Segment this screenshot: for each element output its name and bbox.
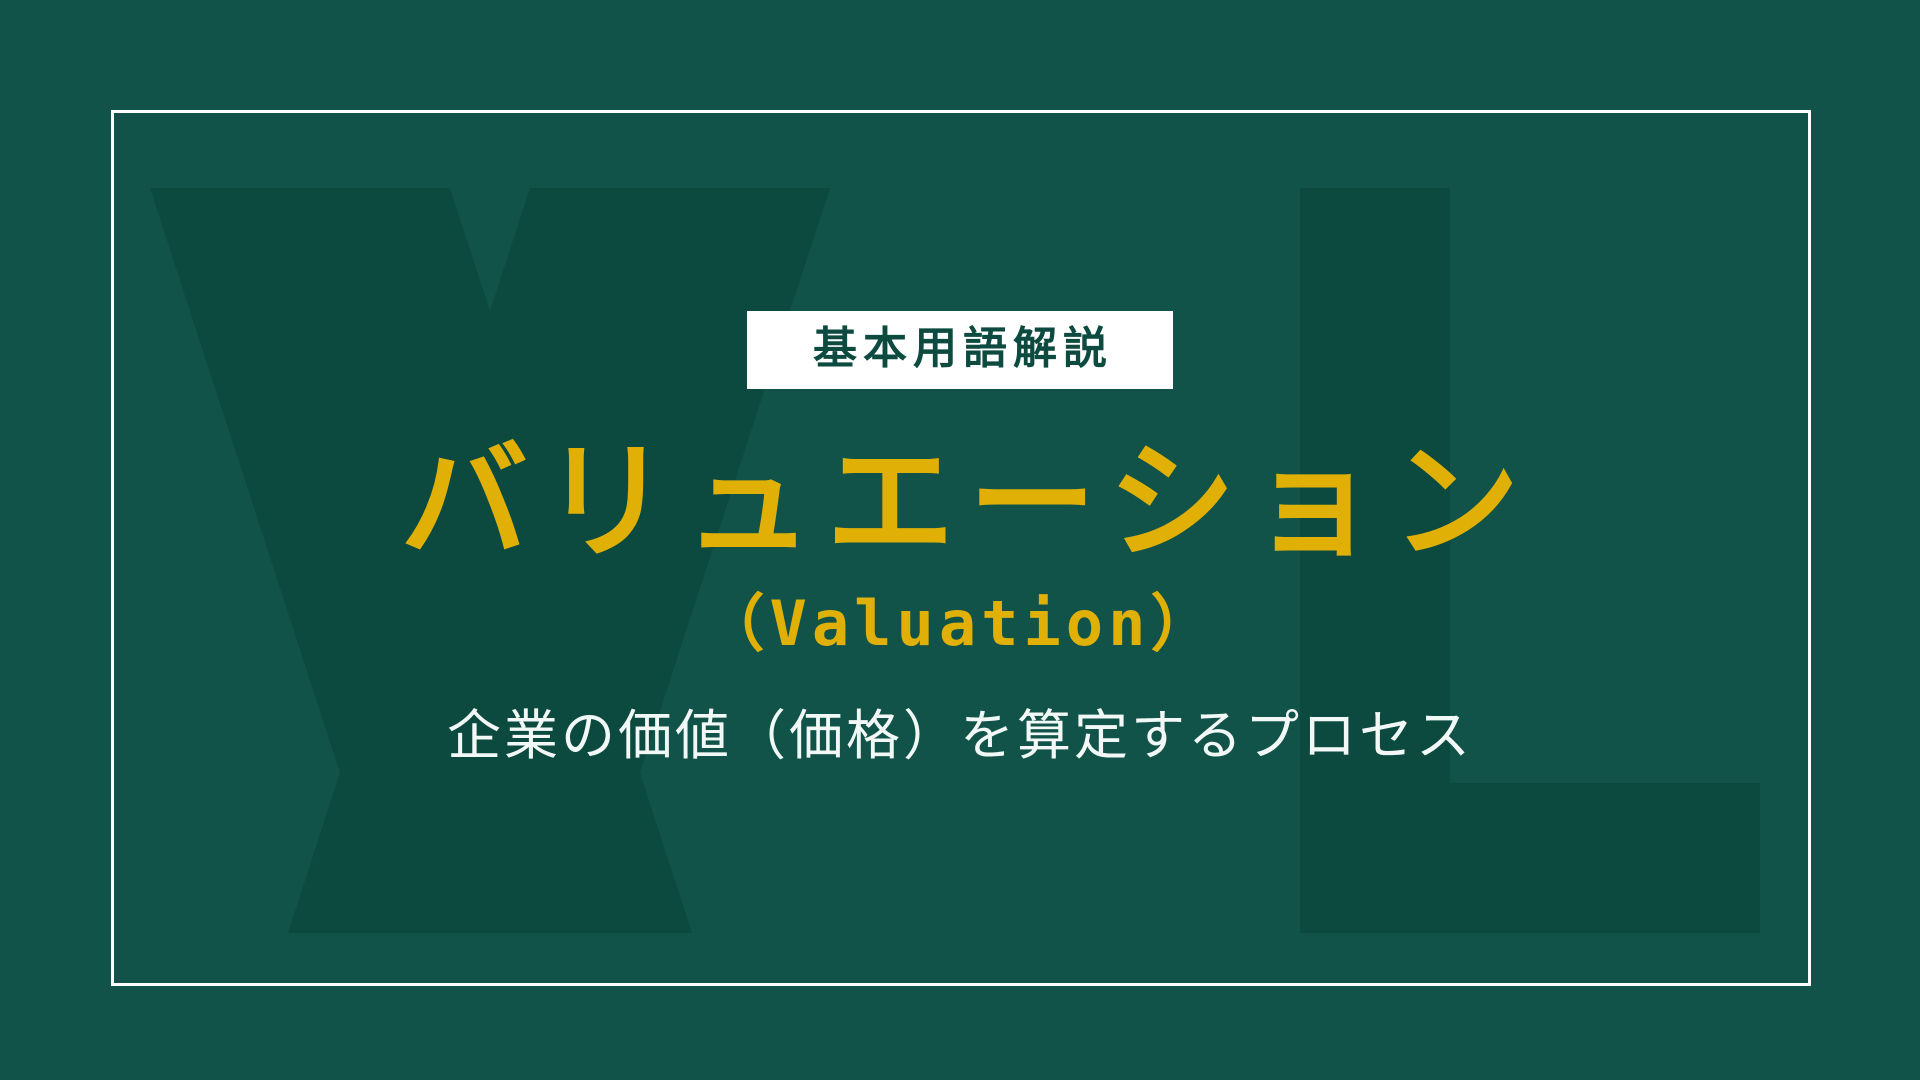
slide-title-japanese: バリュエーション	[400, 431, 1533, 574]
slide-caption: 企業の価値（価格）を算定するプロセス	[447, 704, 1473, 769]
slide-title-english: （Valuation）	[703, 590, 1218, 658]
slide-content: 基本用語解説 バリュエーション （Valuation） 企業の価値（価格）を算定…	[0, 0, 1920, 1080]
presentation-slide: 基本用語解説 バリュエーション （Valuation） 企業の価値（価格）を算定…	[0, 0, 1920, 1080]
category-badge: 基本用語解説	[747, 311, 1173, 389]
